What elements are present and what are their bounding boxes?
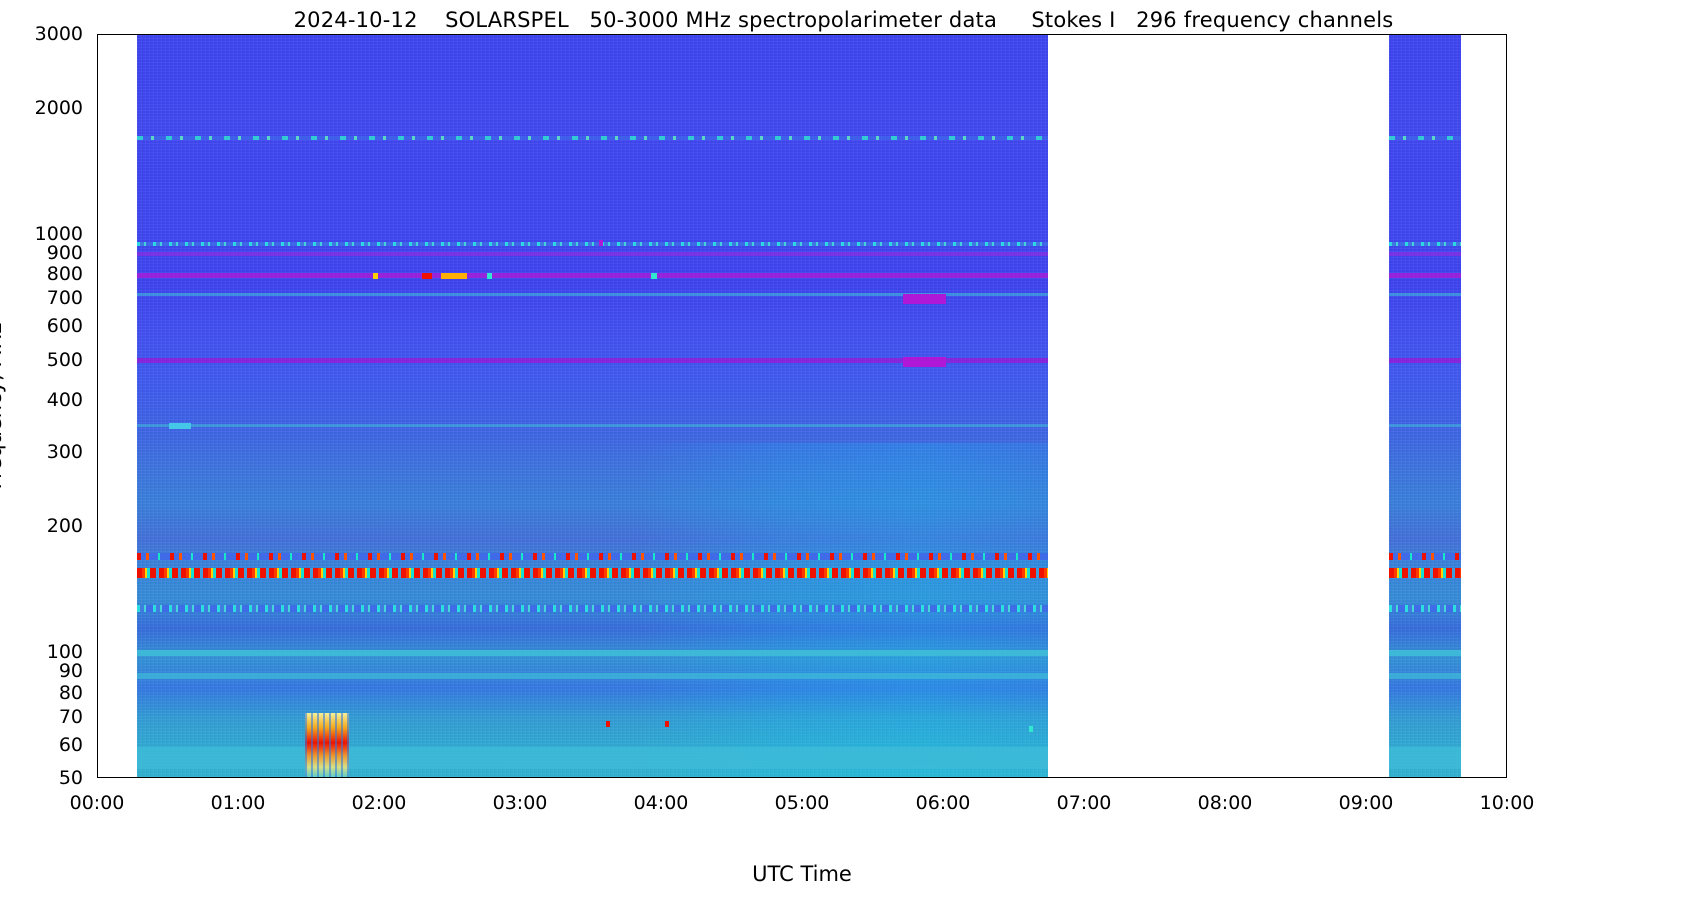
- y-tick: [97, 234, 98, 236]
- y-minor-tick: [97, 160, 98, 162]
- x-minor-tick: [873, 777, 875, 778]
- y-tick: [97, 274, 98, 276]
- x-tick-label: 04:00: [634, 792, 689, 814]
- y-tick-label: 60: [0, 734, 83, 756]
- x-minor-tick: [696, 777, 698, 778]
- y-tick-label: 400: [0, 389, 83, 411]
- rfi-patch-700MHz: [903, 294, 945, 304]
- x-minor-tick: [1437, 777, 1439, 778]
- continuum-55MHz: [137, 747, 1048, 769]
- narrowband-rfi-spot: [651, 273, 657, 279]
- x-minor-tick: [203, 777, 205, 778]
- x-tick-label: 06:00: [916, 792, 971, 814]
- rfi-band-128MHz: [137, 605, 1048, 612]
- x-minor-tick: [309, 777, 311, 778]
- y-minor-tick: [97, 486, 98, 488]
- x-minor-tick: [1190, 777, 1192, 778]
- x-tick: [379, 777, 381, 778]
- x-tick-label: 00:00: [70, 792, 125, 814]
- y-tick-label: 300: [0, 441, 83, 463]
- plot-area: [98, 35, 1506, 777]
- spectrogram-figure: 2024-10-12 SOLARSPEL 50-3000 MHz spectro…: [0, 0, 1687, 906]
- x-minor-tick: [978, 777, 980, 778]
- y-tick-label: 700: [0, 287, 83, 309]
- narrowband-rfi-spot: [599, 240, 603, 246]
- x-tick: [520, 777, 522, 778]
- type-III-burst-striations: [305, 713, 349, 777]
- rfi-band-128MHz: [1389, 605, 1461, 612]
- x-tick-label: 08:00: [1198, 792, 1253, 814]
- rfi-band-800MHz: [137, 273, 1048, 278]
- y-tick-label: 3000: [0, 23, 83, 45]
- y-tick-label: 90: [0, 660, 83, 682]
- narrowband-rfi-spot: [606, 721, 610, 727]
- x-minor-tick: [908, 777, 910, 778]
- data-gap: [1461, 35, 1506, 777]
- rfi-band-100MHz: [1389, 650, 1461, 656]
- x-tick-label: 02:00: [352, 792, 407, 814]
- x-minor-tick: [344, 777, 346, 778]
- x-minor-tick: [1260, 777, 1262, 778]
- y-tick-label: 2000: [0, 97, 83, 119]
- x-minor-tick: [767, 777, 769, 778]
- y-tick-label: 600: [0, 315, 83, 337]
- y-tick-label: 80: [0, 682, 83, 704]
- x-minor-tick: [485, 777, 487, 778]
- data-gap: [98, 35, 137, 777]
- rfi-band-88MHz: [1389, 673, 1461, 679]
- y-tick-label: 900: [0, 242, 83, 264]
- rfi-band-100MHz: [137, 650, 1048, 656]
- y-tick: [97, 108, 98, 110]
- x-minor-tick: [1119, 777, 1121, 778]
- x-minor-tick: [555, 777, 557, 778]
- narrowband-rfi-spot: [1029, 726, 1033, 732]
- x-minor-tick: [1155, 777, 1157, 778]
- data-gap: [1048, 35, 1389, 777]
- rfi-patch-500MHz: [903, 357, 945, 367]
- x-minor-tick: [626, 777, 628, 778]
- x-tick: [943, 777, 945, 778]
- y-tick: [97, 717, 98, 719]
- x-minor-tick: [414, 777, 416, 778]
- x-tick: [1366, 777, 1368, 778]
- y-tick-label: 800: [0, 263, 83, 285]
- rfi-band-950MHz: [137, 242, 1048, 246]
- rfi-band-900MHz: [1389, 252, 1461, 256]
- narrowband-rfi-spot: [422, 273, 432, 279]
- x-minor-tick: [1049, 777, 1051, 778]
- continuum-55MHz: [1389, 747, 1461, 769]
- rfi-band-720MHz: [1389, 293, 1461, 296]
- narrowband-rfi-spot: [665, 721, 669, 727]
- rfi-band-170MHz: [137, 553, 1048, 560]
- rfi-band-500MHz: [1389, 358, 1461, 363]
- y-tick-label: 70: [0, 706, 83, 728]
- rfi-band-950MHz: [1389, 242, 1461, 246]
- rfi-band-155MHz: [1389, 568, 1461, 578]
- y-tick: [97, 253, 98, 255]
- x-minor-tick: [132, 777, 134, 778]
- plot-axes[interactable]: [97, 34, 1507, 778]
- rfi-band-88MHz: [137, 673, 1048, 679]
- x-tick: [238, 777, 240, 778]
- y-tick: [97, 745, 98, 747]
- x-tick-label: 07:00: [1057, 792, 1112, 814]
- y-tick: [97, 299, 98, 301]
- y-minor-tick: [97, 579, 98, 581]
- rfi-band-350MHz: [1389, 424, 1461, 427]
- rfi-band-170MHz: [1389, 553, 1461, 560]
- y-tick: [97, 453, 98, 455]
- x-minor-tick: [450, 777, 452, 778]
- y-tick-label: 200: [0, 515, 83, 537]
- y-tick-label: 50: [0, 767, 83, 789]
- rfi-band-350MHz: [137, 424, 1048, 427]
- x-tick-label: 05:00: [775, 792, 830, 814]
- y-tick: [97, 400, 98, 402]
- y-tick: [97, 327, 98, 329]
- y-tick: [97, 652, 98, 654]
- y-tick-label: 500: [0, 349, 83, 371]
- y-tick: [97, 693, 98, 695]
- x-minor-tick: [591, 777, 593, 778]
- rfi-band-1700MHz: [137, 136, 1048, 140]
- y-tick: [97, 360, 98, 362]
- x-tick-label: 01:00: [211, 792, 266, 814]
- rfi-band-900MHz: [137, 252, 1048, 256]
- x-tick-label: 10:00: [1480, 792, 1535, 814]
- y-tick: [97, 671, 98, 673]
- x-minor-tick: [837, 777, 839, 778]
- narrowband-rfi-spot: [169, 423, 191, 429]
- x-tick: [802, 777, 804, 778]
- x-minor-tick: [1014, 777, 1016, 778]
- x-minor-tick: [1401, 777, 1403, 778]
- figure-title: 2024-10-12 SOLARSPEL 50-3000 MHz spectro…: [0, 8, 1687, 32]
- x-minor-tick: [1472, 777, 1474, 778]
- y-minor-tick: [97, 67, 98, 69]
- x-tick: [661, 777, 663, 778]
- narrowband-rfi-spot: [441, 273, 467, 279]
- rfi-band-800MHz: [1389, 273, 1461, 278]
- x-tick: [1084, 777, 1086, 778]
- rfi-band-1700MHz: [1389, 136, 1461, 140]
- x-tick-label: 03:00: [493, 792, 548, 814]
- y-tick: [97, 526, 98, 528]
- x-axis-title: UTC Time: [97, 862, 1507, 886]
- x-tick: [1225, 777, 1227, 778]
- narrowband-rfi-spot: [373, 273, 378, 279]
- x-tick-label: 09:00: [1339, 792, 1394, 814]
- x-tick: [97, 777, 99, 778]
- rfi-band-155MHz: [137, 568, 1048, 578]
- x-minor-tick: [1331, 777, 1333, 778]
- y-tick: [97, 34, 98, 36]
- narrowband-rfi-spot: [487, 273, 492, 279]
- x-minor-tick: [273, 777, 275, 778]
- x-minor-tick: [732, 777, 734, 778]
- x-minor-tick: [168, 777, 170, 778]
- x-minor-tick: [1296, 777, 1298, 778]
